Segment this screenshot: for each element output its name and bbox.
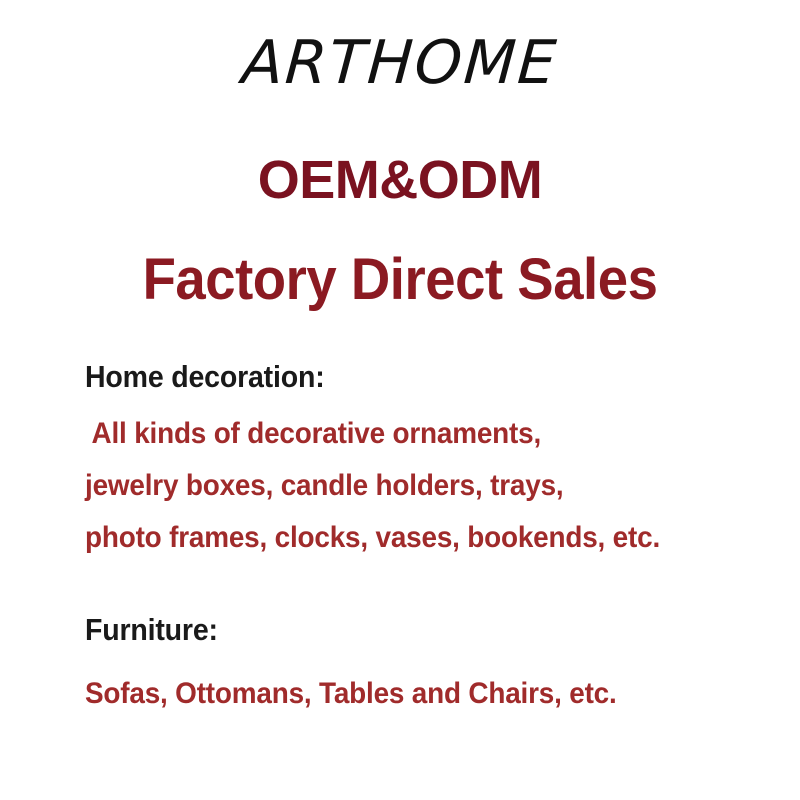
section-line: Sofas, Ottomans, Tables and Chairs, etc. xyxy=(85,668,736,720)
promo-poster: ARTHOME OEM&ODM Factory Direct Sales Hom… xyxy=(0,0,800,800)
headline-oem-odm: OEM&ODM xyxy=(0,148,800,212)
section-line: All kinds of decorative ornaments, xyxy=(85,408,736,460)
product-category-sections: Home decoration: All kinds of decorative… xyxy=(85,355,785,720)
section-line: jewelry boxes, candle holders, trays, xyxy=(85,460,736,512)
section-furniture: Furniture: Sofas, Ottomans, Tables and C… xyxy=(85,608,785,720)
section-heading-furniture: Furniture: xyxy=(85,608,729,652)
headline-factory-direct-sales: Factory Direct Sales xyxy=(24,245,776,315)
section-home-decoration: Home decoration: All kinds of decorative… xyxy=(85,355,785,564)
brand-title: ARTHOME xyxy=(0,26,800,100)
section-line: photo frames, clocks, vases, bookends, e… xyxy=(85,512,736,564)
section-heading-home-decoration: Home decoration: xyxy=(85,355,729,399)
section-lines-furniture: Sofas, Ottomans, Tables and Chairs, etc. xyxy=(85,668,785,720)
section-lines-home-decoration: All kinds of decorative ornaments, jewel… xyxy=(85,408,785,564)
